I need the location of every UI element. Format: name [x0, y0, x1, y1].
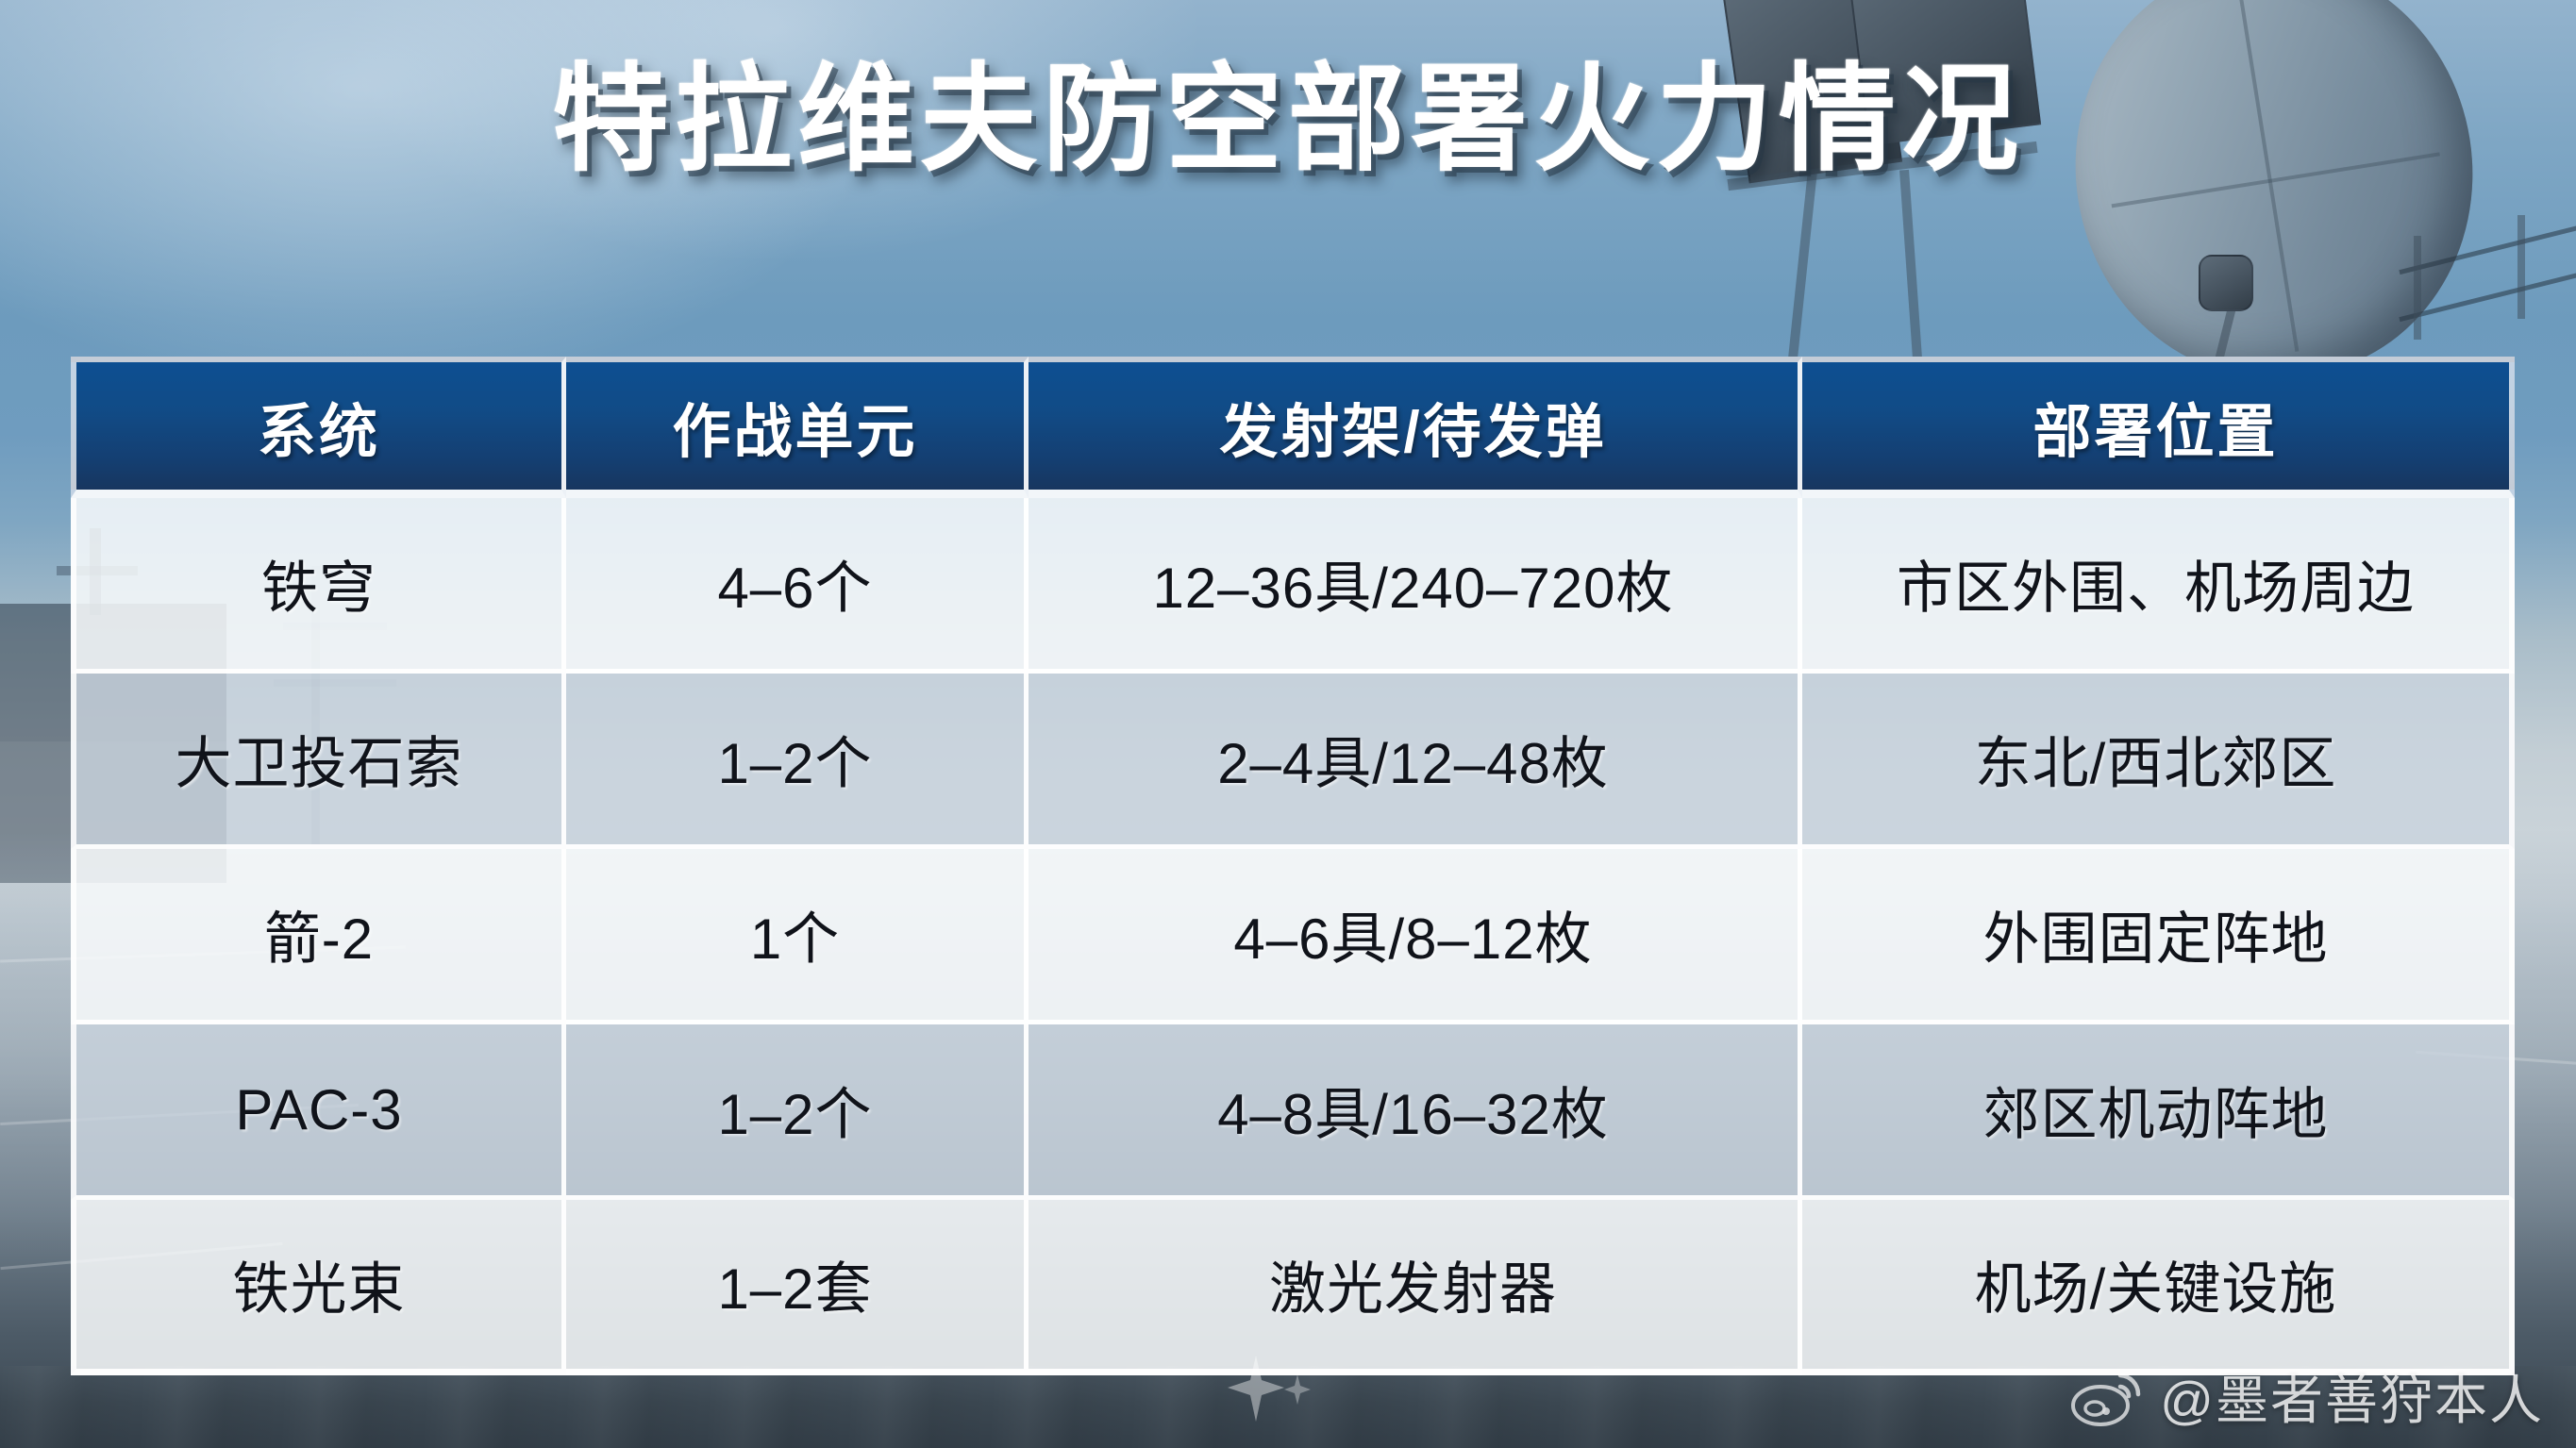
table-row: 铁穹 4–6个 12–36具/240–720枚 市区外围、机场周边	[71, 498, 2515, 674]
cell-system: PAC-3	[71, 1024, 566, 1200]
slide-canvas: 特拉维夫防空部署火力情况 系统 作战单元 发射架/待发弹 部署位置 铁穹 4–6…	[0, 0, 2576, 1448]
cell-launchers: 12–36具/240–720枚	[1029, 498, 1802, 674]
cell-location: 机场/关键设施	[1802, 1200, 2515, 1375]
column-header-location: 部署位置	[1802, 357, 2515, 498]
cell-units: 1个	[566, 849, 1029, 1024]
cell-system: 箭-2	[71, 849, 566, 1024]
table-row: 大卫投石索 1–2个 2–4具/12–48枚 东北/西北郊区	[71, 674, 2515, 849]
cell-system: 铁穹	[71, 498, 566, 674]
sparkle-icon	[1213, 1346, 1326, 1427]
column-header-launchers: 发射架/待发弹	[1029, 357, 1802, 498]
cell-launchers: 2–4具/12–48枚	[1029, 674, 1802, 849]
column-header-units: 作战单元	[566, 357, 1029, 498]
page-title: 特拉维夫防空部署火力情况	[0, 49, 2576, 191]
railing-post	[2414, 236, 2421, 340]
column-header-system: 系统	[71, 357, 566, 498]
table-header-row: 系统 作战单元 发射架/待发弹 部署位置	[71, 357, 2515, 498]
cell-location: 市区外围、机场周边	[1802, 498, 2515, 674]
table-row: 箭-2 1个 4–6具/8–12枚 外围固定阵地	[71, 849, 2515, 1024]
cell-launchers: 4–8具/16–32枚	[1029, 1024, 1802, 1200]
cell-units: 1–2个	[566, 674, 1029, 849]
cell-units: 4–6个	[566, 498, 1029, 674]
cell-units: 1–2个	[566, 1024, 1029, 1200]
cell-launchers: 4–6具/8–12枚	[1029, 849, 1802, 1024]
cell-location: 外围固定阵地	[1802, 849, 2515, 1024]
cell-system: 铁光束	[71, 1200, 566, 1375]
table-header: 系统 作战单元 发射架/待发弹 部署位置	[71, 357, 2515, 498]
cell-launchers: 激光发射器	[1029, 1200, 1802, 1375]
cell-location: 郊区机动阵地	[1802, 1024, 2515, 1200]
table-row: PAC-3 1–2个 4–8具/16–32枚 郊区机动阵地	[71, 1024, 2515, 1200]
cell-units: 1–2套	[566, 1200, 1029, 1375]
cell-location: 东北/西北郊区	[1802, 674, 2515, 849]
cell-system: 大卫投石索	[71, 674, 566, 849]
table-body: 铁穹 4–6个 12–36具/240–720枚 市区外围、机场周边 大卫投石索 …	[71, 498, 2515, 1375]
air-defense-deployment-table: 系统 作战单元 发射架/待发弹 部署位置 铁穹 4–6个 12–36具/240–…	[71, 357, 2515, 1375]
dish-feed-horn	[2199, 255, 2253, 311]
railing-post	[2517, 215, 2525, 319]
firepower-table-container: 系统 作战单元 发射架/待发弹 部署位置 铁穹 4–6个 12–36具/240–…	[71, 357, 2515, 1375]
